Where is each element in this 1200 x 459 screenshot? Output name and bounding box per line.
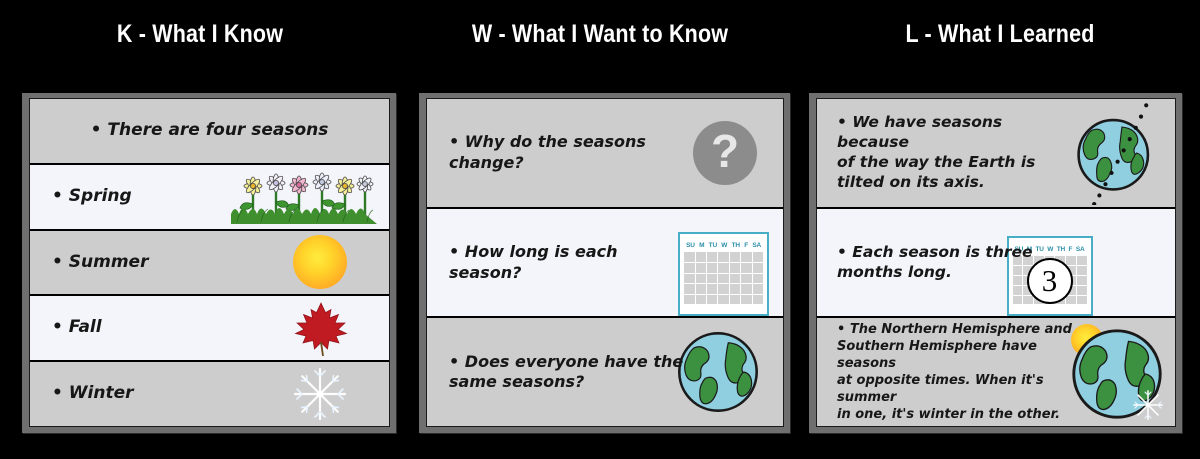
table-row[interactable]: • Summer <box>30 231 389 297</box>
row-text: • Does everyone have the same seasons? <box>427 352 683 393</box>
column-panel-l: • We have seasons because of the way the… <box>809 93 1182 433</box>
calendar-cell <box>696 252 706 262</box>
calendar-cell <box>1077 276 1087 285</box>
calendar-day-header: SA <box>752 242 761 249</box>
column-title-w: W - What I Want to Know <box>431 20 768 49</box>
table-row[interactable]: • The Northern Hemisphere and Southern H… <box>817 318 1175 426</box>
calendar-cell <box>707 252 717 262</box>
calendar-day-header: TH <box>732 242 740 249</box>
column-title-l: L - What I Learned <box>828 20 1172 49</box>
table-row[interactable]: • Winter <box>30 362 389 426</box>
calendar-cell <box>1023 286 1033 295</box>
calendar-cell <box>718 263 728 273</box>
calendar-cell <box>707 295 717 305</box>
column-title-k: K - What I Know <box>28 20 372 49</box>
calendar-cell <box>753 263 763 273</box>
calendar-cell <box>696 284 706 294</box>
table-row[interactable]: • Does everyone have the same seasons? <box>427 318 783 426</box>
calendar-cell <box>1045 276 1055 285</box>
calendar-cell <box>741 284 751 294</box>
calendar-cell <box>707 284 717 294</box>
row-text: • Why do the seasons change? <box>427 132 699 173</box>
tilted-globe-icon <box>1063 101 1167 205</box>
calendar-cell <box>730 263 740 273</box>
calendar-day-header: SA <box>1076 246 1085 253</box>
calendar-cell <box>1034 266 1044 275</box>
table-row[interactable]: • We have seasons because of the way the… <box>817 99 1175 209</box>
calendar-cell <box>1023 296 1033 305</box>
column-rows-w: • Why do the seasons change? ? • How lon… <box>426 98 784 427</box>
calendar-cell <box>741 263 751 273</box>
calendar-cell <box>1066 296 1076 305</box>
calendar-cell <box>1066 286 1076 295</box>
column-panel-k: • There are four seasons • Spring <box>22 93 396 433</box>
column-panel-w: • Why do the seasons change? ? • How lon… <box>419 93 790 433</box>
row-text: • Each season is three months long. <box>817 243 1033 283</box>
calendar-cell <box>730 274 740 284</box>
calendar-cell <box>707 274 717 284</box>
calendar-day-header: W <box>721 242 727 249</box>
row-text: • The Northern Hemisphere and Southern H… <box>817 321 1087 424</box>
calendar-cell <box>696 274 706 284</box>
calendar-cell <box>1034 256 1044 265</box>
globe-icon <box>675 329 761 415</box>
calendar-cell <box>730 284 740 294</box>
calendar-day-header: TU <box>1035 246 1043 253</box>
question-mark-glyph: ? <box>711 128 739 174</box>
flowers-clipart <box>231 170 377 224</box>
row-text: • Fall <box>30 317 102 339</box>
calendar-cell <box>1045 286 1055 295</box>
calendar-cell <box>718 252 728 262</box>
row-text: • Winter <box>30 383 134 405</box>
calendar-cell <box>1077 256 1087 265</box>
calendar-cell <box>1077 266 1087 275</box>
calendar-cell <box>1077 296 1087 305</box>
calendar-cell <box>1034 276 1044 285</box>
calendar-cell <box>1013 286 1023 295</box>
calendar-day-header: F <box>1069 246 1073 253</box>
calendar-cell <box>1045 296 1055 305</box>
calendar-cell <box>1013 296 1023 305</box>
table-row[interactable]: • How long is each season? SU M TU W TH … <box>427 209 783 319</box>
calendar-cell <box>684 284 694 294</box>
calendar-cell <box>718 284 728 294</box>
calendar-cell <box>753 295 763 305</box>
calendar-cell <box>1066 266 1076 275</box>
calendar-cell <box>1055 256 1065 265</box>
maple-leaf-icon <box>293 300 349 356</box>
snowflake-icon <box>1131 388 1165 422</box>
calendar-cell <box>718 295 728 305</box>
calendar-cell <box>1055 296 1065 305</box>
calendar-cell <box>753 274 763 284</box>
calendar-cell <box>718 274 728 284</box>
calendar-day-headers: SU M TU W TH F SA <box>684 242 763 249</box>
calendar-cell <box>1055 276 1065 285</box>
calendar-cell <box>696 295 706 305</box>
calendar-day-header: M <box>699 242 704 249</box>
row-text: • Summer <box>30 252 148 274</box>
calendar-cell <box>1045 256 1055 265</box>
calendar-cell <box>1034 296 1044 305</box>
row-text: • There are four seasons <box>30 120 389 142</box>
calendar-cell <box>1055 266 1065 275</box>
calendar-cell <box>1055 286 1065 295</box>
calendar-cell <box>753 284 763 294</box>
calendar-cell <box>707 263 717 273</box>
calendar-cell <box>696 263 706 273</box>
row-text: • How long is each season? <box>427 242 692 283</box>
table-row[interactable]: • There are four seasons <box>30 99 389 165</box>
calendar-day-header: F <box>744 242 748 249</box>
calendar-cell <box>1066 256 1076 265</box>
table-row[interactable]: • Each season is three months long. SU M… <box>817 209 1175 319</box>
calendar-cell <box>684 295 694 305</box>
calendar-day-header: W <box>1047 246 1053 253</box>
calendar-cell <box>741 274 751 284</box>
table-row[interactable]: • Fall <box>30 296 389 362</box>
table-row[interactable]: • Why do the seasons change? ? <box>427 99 783 209</box>
calendar-cell <box>741 295 751 305</box>
kwl-chart: K - What I Know W - What I Want to Know … <box>0 0 1200 459</box>
calendar-cell <box>730 295 740 305</box>
row-text: • We have seasons because of the way the… <box>817 113 1072 192</box>
row-text: • Spring <box>30 186 132 208</box>
calendar-cell <box>753 252 763 262</box>
month-count-badge: 3 <box>1027 258 1073 304</box>
calendar-cell <box>730 252 740 262</box>
sun-icon <box>293 235 347 289</box>
calendar-day-header: TU <box>709 242 717 249</box>
column-rows-l: • We have seasons because of the way the… <box>816 98 1176 427</box>
calendar-cell <box>1034 286 1044 295</box>
calendar-grid <box>684 252 763 304</box>
column-rows-k: • There are four seasons • Spring <box>29 98 390 427</box>
question-mark-icon: ? <box>693 121 757 185</box>
snowflake-icon <box>291 365 349 423</box>
calendar-cell <box>741 252 751 262</box>
calendar-day-header: TH <box>1057 246 1065 253</box>
calendar-cell <box>1066 276 1076 285</box>
table-row[interactable]: • Spring <box>30 165 389 231</box>
calendar-cell <box>1077 286 1087 295</box>
calendar-cell <box>1045 266 1055 275</box>
axis-dots <box>1092 103 1148 205</box>
